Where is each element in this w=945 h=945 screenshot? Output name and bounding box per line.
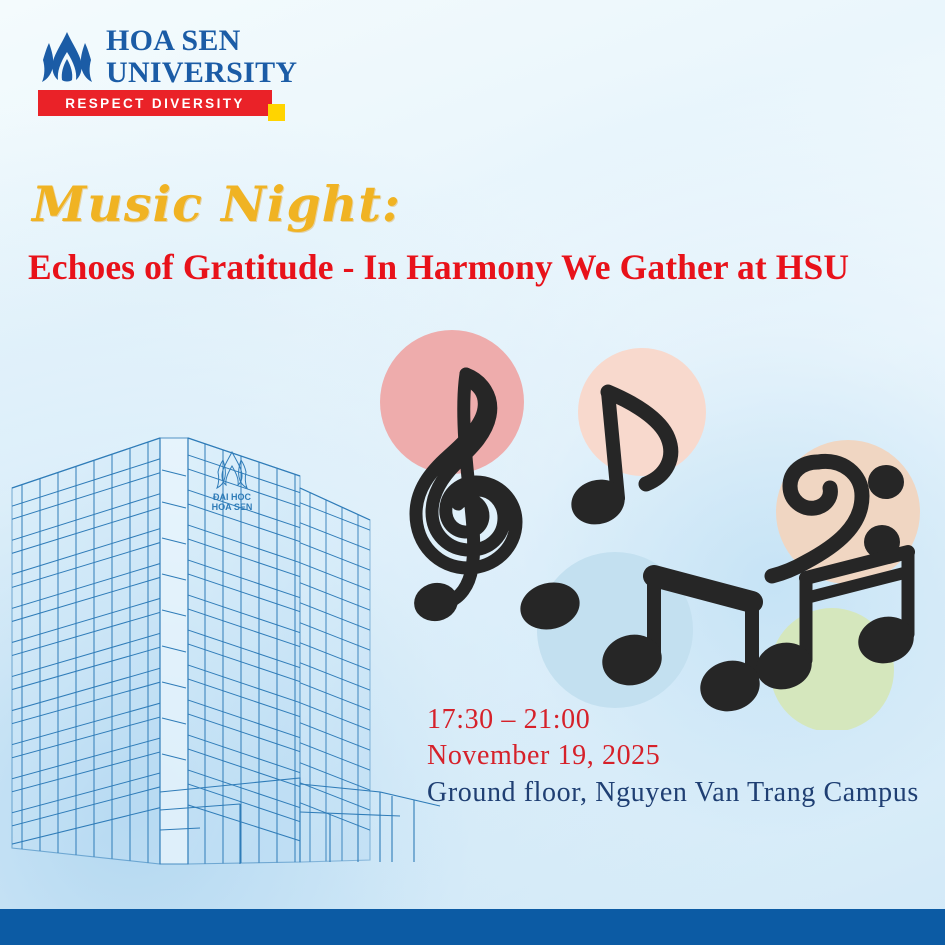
bottom-bar xyxy=(0,909,945,945)
event-poster: HOA SEN UNIVERSITY RESPECT DIVERSITY Mus… xyxy=(0,0,945,945)
script-title: Music Night: xyxy=(32,175,401,233)
event-location: Ground floor, Nguyen Van Trang Campus xyxy=(427,775,919,811)
yellow-accent-square xyxy=(268,104,285,121)
page-title: Echoes of Gratitude - In Harmony We Gath… xyxy=(28,246,849,288)
tagline-text: RESPECT DIVERSITY xyxy=(65,96,245,111)
logo-wordmark: HOA SEN UNIVERSITY xyxy=(106,26,297,88)
hoa-sen-lotus-logo-icon xyxy=(34,30,100,86)
event-details: 17:30 – 21:00 November 19, 2025 Ground f… xyxy=(427,702,919,811)
event-time: 17:30 – 21:00 xyxy=(427,702,919,738)
building-sign-line-1: ĐẠI HỌC xyxy=(213,492,252,502)
respect-diversity-banner: RESPECT DIVERSITY xyxy=(38,90,272,116)
music-notes-artwork xyxy=(370,330,945,730)
logo-line-2: UNIVERSITY xyxy=(106,58,297,88)
event-date: November 19, 2025 xyxy=(427,738,919,774)
hoa-sen-university-logo: HOA SEN UNIVERSITY RESPECT DIVERSITY xyxy=(34,26,304,124)
building-sign-line-2: HOA SEN xyxy=(212,502,253,512)
logo-line-1: HOA SEN xyxy=(106,26,297,56)
